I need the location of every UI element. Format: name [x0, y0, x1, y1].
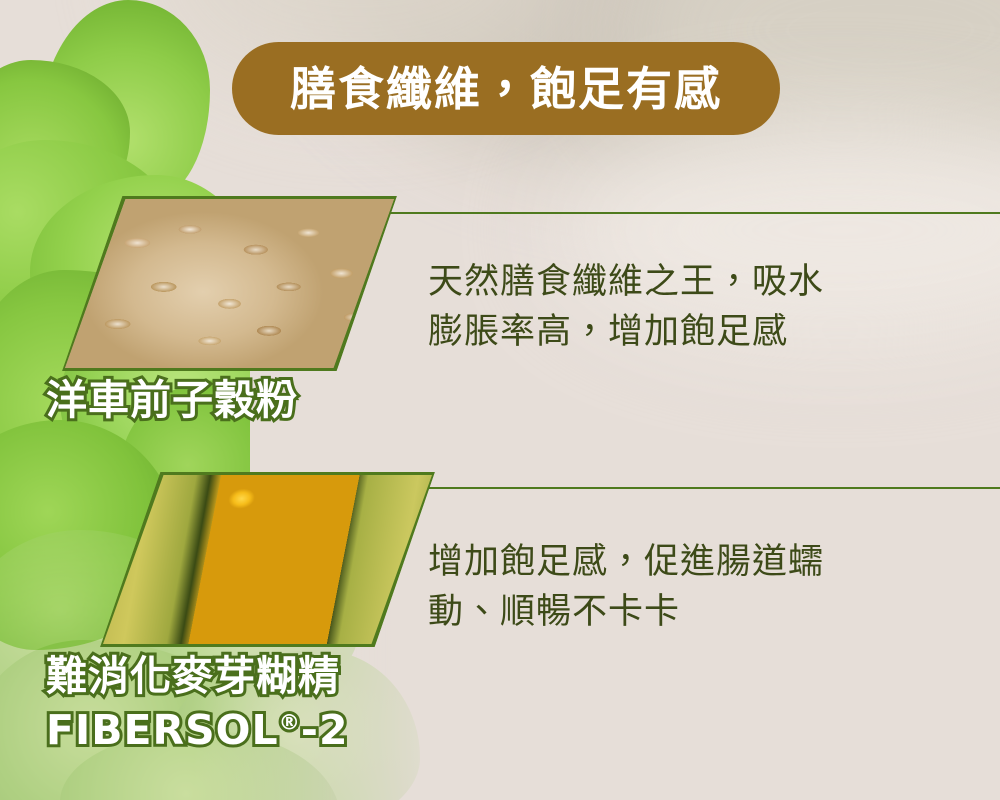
- psyllium-description-line-1: 天然膳食纖維之王，吸水: [428, 258, 948, 308]
- psyllium-description: 天然膳食纖維之王，吸水 膨脹率高，增加飽足感: [428, 258, 948, 357]
- section-divider-bottom: [383, 487, 1000, 489]
- headline-banner: 膳食纖維，飽足有感: [232, 42, 780, 135]
- section-divider-top: [345, 212, 1000, 214]
- fibersol-label: 難消化麥芽糊精: [46, 654, 340, 698]
- promo-banner-canvas: 膳食纖維，飽足有感 天然膳食纖維之王，吸水 膨脹率高，增加飽足感 增加飽足感，促…: [0, 0, 1000, 800]
- fibersol-brand-label: FIBERSOL®-2: [46, 708, 348, 752]
- corn-kernels: [189, 475, 360, 644]
- psyllium-label: 洋車前子穀粉: [46, 378, 298, 422]
- psyllium-description-line-2: 膨脹率高，增加飽足感: [428, 308, 948, 358]
- fibersol-description: 增加飽足感，促進腸道蠕 動、順暢不卡卡: [428, 538, 948, 637]
- headline-text: 膳食纖維，飽足有感: [290, 66, 722, 112]
- registered-trademark-icon: ®: [279, 710, 301, 735]
- fibersol-brand-suffix: -2: [301, 706, 349, 754]
- fibersol-description-line-2: 動、順暢不卡卡: [428, 588, 948, 638]
- fibersol-description-line-1: 增加飽足感，促進腸道蠕: [428, 538, 948, 588]
- fibersol-brand-name: FIBERSOL: [46, 706, 279, 754]
